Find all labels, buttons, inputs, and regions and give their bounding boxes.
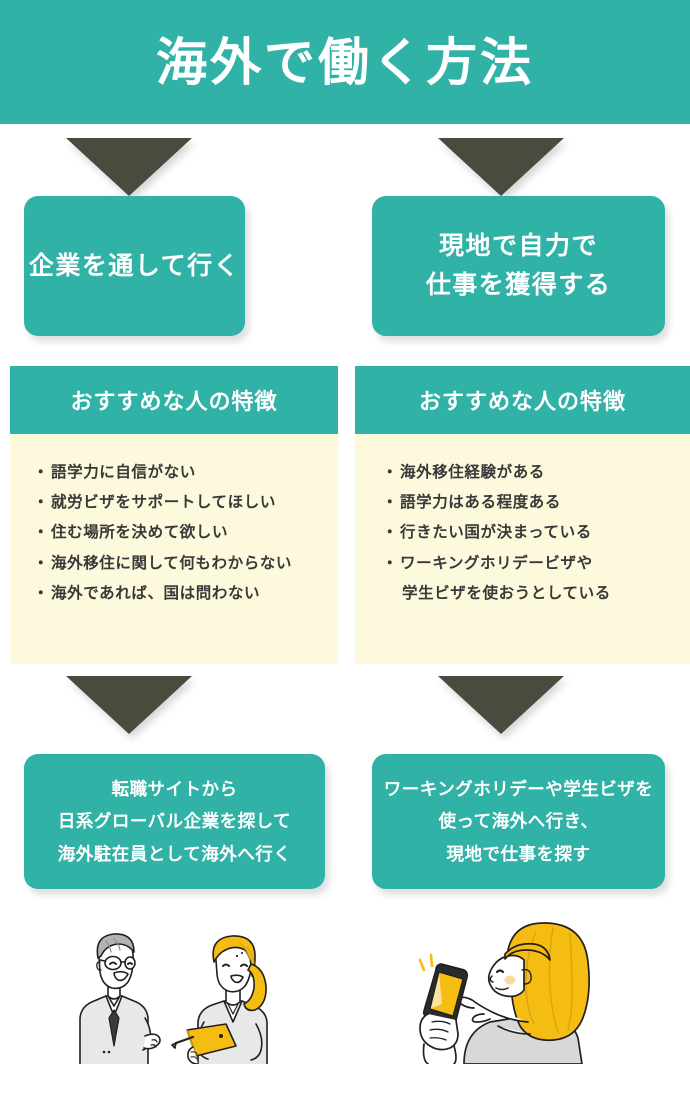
- feature-cell-left: 語学力に自信がない 就労ビザをサポートしてほしい 住む場所を決めて欲しい 海外移…: [0, 434, 345, 664]
- woman-with-smartphone-illustration: [398, 914, 638, 1064]
- method-line: 企業を通して行く: [29, 247, 240, 286]
- bullet-text: 住む場所を決めて欲しい: [51, 524, 228, 541]
- sub-head-cell-right: おすすめな人の特徴: [345, 366, 690, 434]
- list-item: 語学力に自信がない: [36, 458, 338, 488]
- result-cell-left: 転職サイトから 日系グローバル企業を探して 海外駐在員として海外へ行く: [0, 754, 345, 889]
- spacer: [0, 336, 690, 366]
- sub-head-right: おすすめな人の特徴: [355, 366, 690, 434]
- result-box-via-company: 転職サイトから 日系グローバル企業を探して 海外駐在員として海外へ行く: [24, 754, 325, 889]
- list-item: 海外移住に関して何もわからない: [36, 549, 338, 579]
- list-item: 就労ビザをサポートしてほしい: [36, 488, 338, 518]
- bullet-text: 海外であれば、国は問わない: [51, 585, 260, 602]
- sub-head-left: おすすめな人の特徴: [10, 366, 338, 434]
- result-line: 日系グローバル企業を探して: [58, 805, 291, 837]
- feature-panel-right: 海外移住経験がある 語学力はある程度ある 行きたい国が決まっている ワーキングホ…: [355, 434, 690, 664]
- arrow-row-bottom: [0, 664, 690, 742]
- businessman-and-woman-with-clipboard-illustration: [48, 914, 298, 1064]
- arrow-row-top: [0, 124, 690, 196]
- method-box-self-directed: 現地で自力で 仕事を獲得する: [372, 196, 665, 336]
- spacer: [0, 742, 690, 754]
- feature-panel-left: 語学力に自信がない 就労ビザをサポートしてほしい 住む場所を決めて欲しい 海外移…: [10, 434, 338, 664]
- down-arrow-icon: [438, 138, 564, 196]
- arrow-cell-right: [345, 124, 690, 196]
- list-item: 行きたい国が決まっている: [385, 518, 690, 548]
- bullet-text: 語学力に自信がない: [51, 464, 196, 481]
- illustration-cell-left: [0, 889, 345, 1064]
- result-line: 使って海外へ行き、: [439, 805, 599, 837]
- feature-panels-row: 語学力に自信がない 就労ビザをサポートしてほしい 住む場所を決めて欲しい 海外移…: [0, 434, 690, 664]
- column-via-company: 企業を通して行く: [0, 196, 345, 336]
- bullet-text: ワーキングホリデービザや: [400, 555, 593, 572]
- method-boxes-row: 企業を通して行く 現地で自力で 仕事を獲得する: [0, 196, 690, 336]
- result-line: ワーキングホリデーや学生ビザを: [384, 773, 653, 805]
- bullet-text: 海外移住経験がある: [400, 464, 545, 481]
- method-line: 現地で自力で: [439, 227, 598, 266]
- down-arrow-icon: [66, 138, 192, 196]
- arrow-cell-left: [0, 124, 345, 196]
- method-box-via-company: 企業を通して行く: [24, 196, 245, 336]
- bullet-list-left: 語学力に自信がない 就労ビザをサポートしてほしい 住む場所を決めて欲しい 海外移…: [36, 458, 338, 609]
- result-boxes-row: 転職サイトから 日系グローバル企業を探して 海外駐在員として海外へ行く ワーキン…: [0, 754, 690, 889]
- bullet-text: 就労ビザをサポートしてほしい: [51, 494, 276, 511]
- bullet-text-continuation: 学生ビザを使おうとしている: [400, 579, 690, 609]
- column-self-directed: 現地で自力で 仕事を獲得する: [345, 196, 690, 336]
- method-line: 仕事を獲得する: [426, 266, 612, 305]
- bullet-list-right: 海外移住経験がある 語学力はある程度ある 行きたい国が決まっている ワーキングホ…: [385, 458, 690, 609]
- page-title-band: 海外で働く方法: [0, 0, 690, 124]
- bullet-text: 行きたい国が決まっている: [400, 524, 592, 541]
- bullet-text: 海外移住に関して何もわからない: [51, 555, 292, 572]
- result-line: 転職サイトから: [112, 773, 238, 805]
- sub-head-row: おすすめな人の特徴 おすすめな人の特徴: [0, 366, 690, 434]
- bullet-text: 語学力はある程度ある: [400, 494, 561, 511]
- list-item: 語学力はある程度ある: [385, 488, 690, 518]
- list-item: 海外であれば、国は問わない: [36, 579, 338, 609]
- sub-head-cell-left: おすすめな人の特徴: [0, 366, 345, 434]
- down-arrow-icon: [438, 676, 564, 734]
- illustration-row: [0, 889, 690, 1064]
- illustration-cell-right: [345, 889, 690, 1064]
- arrow-cell-right-bottom: [345, 664, 690, 742]
- list-item: 住む場所を決めて欲しい: [36, 518, 338, 548]
- list-item: 海外移住経験がある: [385, 458, 690, 488]
- page-title: 海外で働く方法: [156, 37, 534, 88]
- list-item: ワーキングホリデービザや 学生ビザを使おうとしている: [385, 549, 690, 609]
- feature-cell-right: 海外移住経験がある 語学力はある程度ある 行きたい国が決まっている ワーキングホ…: [345, 434, 690, 664]
- down-arrow-icon: [66, 676, 192, 734]
- arrow-cell-left-bottom: [0, 664, 345, 742]
- result-line: 現地で仕事を探す: [447, 838, 591, 870]
- result-line: 海外駐在員として海外へ行く: [58, 838, 291, 870]
- result-box-self-directed: ワーキングホリデーや学生ビザを 使って海外へ行き、 現地で仕事を探す: [372, 754, 665, 889]
- result-cell-right: ワーキングホリデーや学生ビザを 使って海外へ行き、 現地で仕事を探す: [345, 754, 690, 889]
